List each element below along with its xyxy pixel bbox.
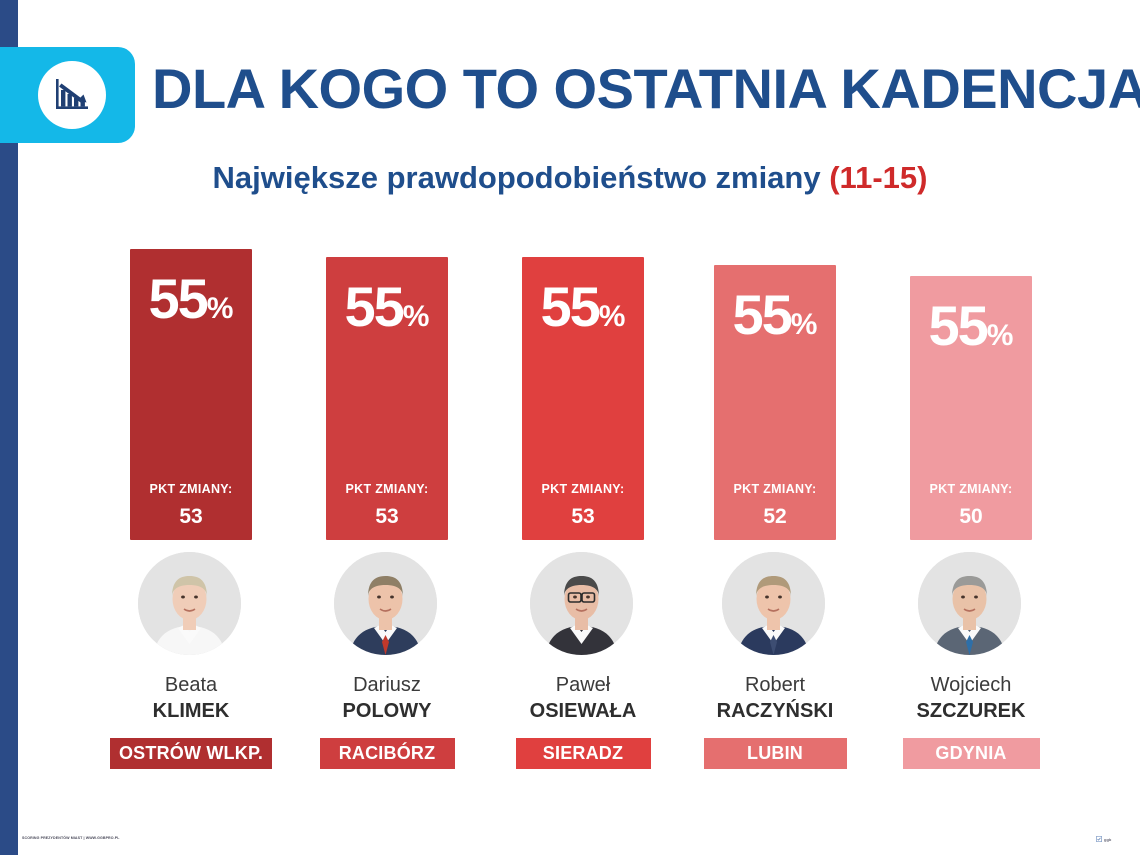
- change-points-value: 53: [326, 505, 448, 529]
- infographic-poster: DLA KOGO TO OSTATNIA KADENCJA? Największ…: [0, 0, 1140, 855]
- bar-percent-value: 55%: [326, 279, 448, 335]
- page-title: DLA KOGO TO OSTATNIA KADENCJA?: [152, 56, 1140, 121]
- subtitle-main: Największe prawdopodobieństwo zmiany: [213, 160, 830, 195]
- declining-bar-chart-icon: [38, 61, 106, 129]
- bar: 55%PKT ZMIANY:53: [326, 257, 448, 540]
- candidate-first-name: Beata: [130, 674, 252, 697]
- candidate-last-name: OSIEWAŁA: [522, 700, 644, 723]
- change-points-label: PKT ZMIANY:: [326, 482, 448, 496]
- bar-percent-value: 55%: [522, 279, 644, 335]
- percent-symbol: %: [791, 308, 818, 341]
- candidate-last-name: KLIMEK: [130, 700, 252, 723]
- bar: 55%PKT ZMIANY:53: [522, 257, 644, 540]
- bar-percent-value: 55%: [910, 298, 1032, 354]
- city-badge: SIERADZ: [516, 738, 651, 769]
- footer-mark-label: ggb: [1104, 837, 1111, 842]
- percent-number: 55: [929, 294, 987, 357]
- avatar-pawel-osiewala: [530, 552, 633, 655]
- change-points-label: PKT ZMIANY:: [714, 482, 836, 496]
- bar: 55%PKT ZMIANY:52: [714, 265, 836, 540]
- percent-symbol: %: [403, 300, 430, 333]
- percent-number: 55: [733, 283, 791, 346]
- bar: 55%PKT ZMIANY:50: [910, 276, 1032, 540]
- subtitle-range: (11-15): [829, 160, 927, 195]
- city-badge: LUBIN: [704, 738, 847, 769]
- change-points-value: 52: [714, 505, 836, 529]
- city-badge: OSTRÓW WLKP.: [110, 738, 272, 769]
- bar-percent-value: 55%: [130, 271, 252, 327]
- percent-symbol: %: [599, 300, 626, 333]
- avatar-beata-klimek: [138, 552, 241, 655]
- footer-note: SCORING PREZYDENTÓW MIAST | WWW.GGBPRO.P…: [22, 836, 120, 840]
- candidate-row: BeataKLIMEKOSTRÓW WLKP.DariuszPOLOWYRACI…: [0, 552, 1140, 802]
- bar-column: 55%PKT ZMIANY:50: [910, 240, 1106, 540]
- candidate-last-name: SZCZUREK: [910, 700, 1032, 723]
- logo-badge: [0, 47, 135, 143]
- candidate-first-name: Wojciech: [910, 674, 1032, 697]
- bar-column: 55%PKT ZMIANY:52: [714, 240, 910, 540]
- poster-header: DLA KOGO TO OSTATNIA KADENCJA?: [0, 0, 1140, 155]
- city-badge: GDYNIA: [903, 738, 1040, 769]
- change-points-value: 50: [910, 505, 1032, 529]
- change-points-value: 53: [130, 505, 252, 529]
- candidate-first-name: Dariusz: [326, 674, 448, 697]
- avatar-dariusz-polowy: [334, 552, 437, 655]
- change-points-label: PKT ZMIANY:: [130, 482, 252, 496]
- candidate-last-name: POLOWY: [326, 700, 448, 723]
- bar-column: 55%PKT ZMIANY:53: [326, 240, 522, 540]
- percent-symbol: %: [207, 292, 234, 325]
- bar: 55%PKT ZMIANY:53: [130, 249, 252, 540]
- bar-column: 55%PKT ZMIANY:53: [522, 240, 718, 540]
- avatar-wojciech-szczurek: [918, 552, 1021, 655]
- poster-subtitle: Największe prawdopodobieństwo zmiany (11…: [0, 160, 1140, 196]
- candidate-first-name: Paweł: [522, 674, 644, 697]
- candidate-last-name: RACZYŃSKI: [714, 700, 836, 723]
- candidate-first-name: Robert: [714, 674, 836, 697]
- bar-chart: 55%PKT ZMIANY:5355%PKT ZMIANY:5355%PKT Z…: [0, 240, 1140, 540]
- change-points-label: PKT ZMIANY:: [522, 482, 644, 496]
- avatar-robert-raczynski: [722, 552, 825, 655]
- change-points-value: 53: [522, 505, 644, 529]
- percent-symbol: %: [987, 319, 1014, 352]
- percent-number: 55: [541, 275, 599, 338]
- bar-percent-value: 55%: [714, 287, 836, 343]
- percent-number: 55: [345, 275, 403, 338]
- city-badge: RACIBÓRZ: [320, 738, 455, 769]
- bar-column: 55%PKT ZMIANY:53: [130, 240, 326, 540]
- footer-logo-mark: ggb: [1096, 836, 1111, 842]
- shield-icon: [1096, 836, 1102, 842]
- percent-number: 55: [149, 267, 207, 330]
- change-points-label: PKT ZMIANY:: [910, 482, 1032, 496]
